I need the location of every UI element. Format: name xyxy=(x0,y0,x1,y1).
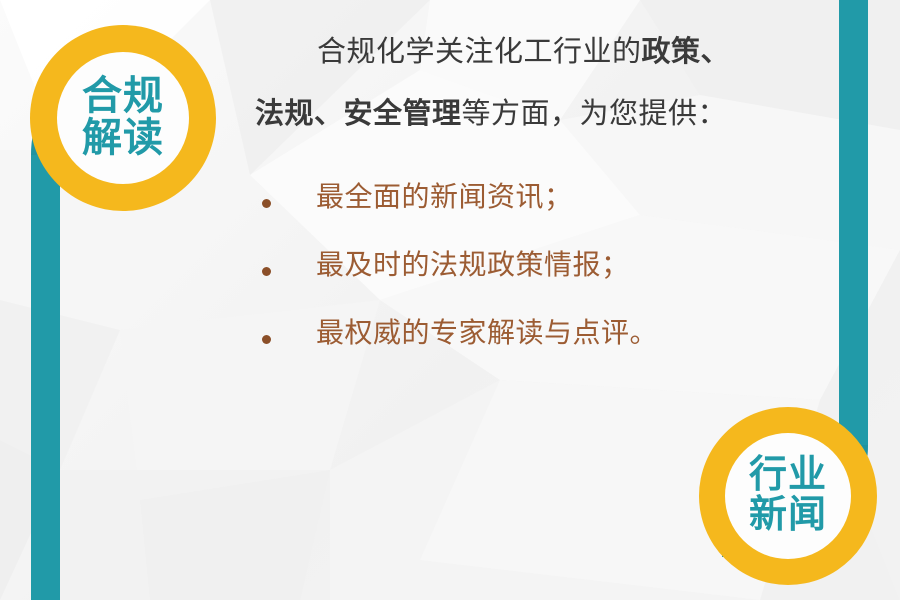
badge-label-line1: 合规 xyxy=(82,76,164,118)
bullet-dot-icon xyxy=(262,267,271,276)
headline-line-1: 合规化学关注化工行业的政策、 xyxy=(255,38,855,67)
badge-inner-disc-bottom-right: 行业 新闻 xyxy=(725,433,851,559)
promotional-poster: 合规 解读 行业 新闻 合规化学关注化工行业的政策、 法规、安全管理等方面，为您… xyxy=(0,0,900,600)
badge-compliance-interpretation[interactable]: 合规 解读 xyxy=(30,25,216,211)
bullet-dot-icon xyxy=(262,335,271,344)
list-item-label: 最全面的新闻资讯； xyxy=(316,183,573,211)
headline-line2-bold: 法规、安全管理 xyxy=(255,98,462,130)
bullet-dot-icon xyxy=(262,199,271,208)
badge-label-line1: 行业 xyxy=(749,456,827,496)
benefits-list: 最全面的新闻资讯； 最及时的法规政策情报； 最权威的专家解读与点评。 xyxy=(262,183,862,387)
headline-line1-bold: 政策、 xyxy=(642,36,731,68)
list-item: 最权威的专家解读与点评。 xyxy=(262,319,862,387)
headline-line1-normal: 合规化学关注化工行业的 xyxy=(317,36,642,68)
headline-line2-normal: 等方面，为您提供： xyxy=(462,98,728,130)
list-item: 最全面的新闻资讯； xyxy=(262,183,862,251)
badge-label-line2: 解读 xyxy=(82,118,164,160)
headline-block: 合规化学关注化工行业的政策、 法规、安全管理等方面，为您提供： xyxy=(255,38,855,129)
list-item-label: 最及时的法规政策情报； xyxy=(316,251,630,279)
list-item: 最及时的法规政策情报； xyxy=(262,251,862,319)
badge-industry-news[interactable]: 行业 新闻 xyxy=(699,407,877,585)
list-item-label: 最权威的专家解读与点评。 xyxy=(316,319,658,347)
badge-label-line2: 新闻 xyxy=(749,496,827,536)
badge-inner-disc-top-left: 合规 解读 xyxy=(57,52,189,184)
headline-line-2: 法规、安全管理等方面，为您提供： xyxy=(255,100,855,129)
